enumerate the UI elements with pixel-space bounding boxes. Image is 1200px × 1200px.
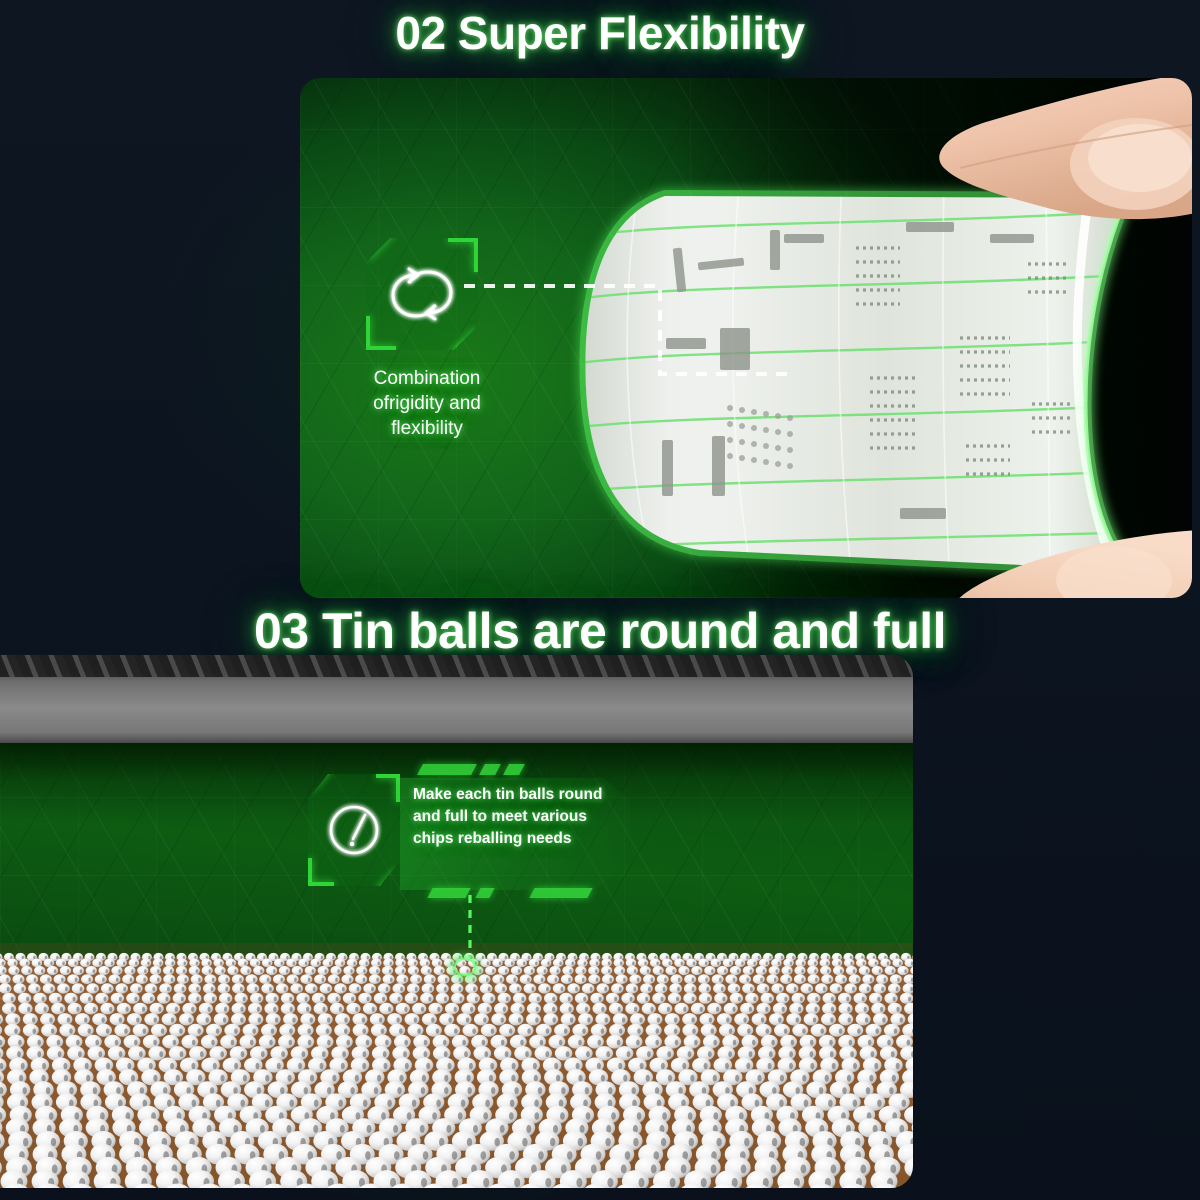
callout-connector-line (460, 258, 790, 398)
frame-bracket (376, 774, 400, 778)
thumb-top-photo (900, 78, 1192, 262)
solder-ball-icon-frame (308, 774, 400, 886)
section-title-02: 02 Super Flexibility (0, 6, 1200, 60)
frame-bracket (377, 869, 400, 892)
section-title-03: 03 Tin balls are round and full (0, 602, 1200, 660)
frame-bracket (448, 238, 478, 242)
callout-text: Make each tin balls round and full to me… (413, 784, 623, 850)
tin-balls-callout: Make each tin balls round and full to me… (300, 762, 630, 902)
callout-line: and full to meet various (413, 806, 623, 828)
caption-line: flexibility (322, 416, 532, 441)
decoration-bar (417, 764, 477, 775)
product-feature-infographic: 02 Super Flexibility (0, 0, 1200, 1200)
decoration-bar (529, 888, 592, 898)
frame-bracket (396, 774, 400, 802)
flexibility-arrows-icon (383, 259, 461, 329)
frame-ridges (0, 655, 913, 677)
frame-bracket (366, 346, 396, 350)
frame-bracket (309, 769, 332, 792)
callout-line: chips reballing needs (413, 828, 623, 850)
stencil-frame-edge (0, 655, 913, 743)
highlighted-ball-marker (454, 958, 476, 976)
callout-line: Make each tin balls round (413, 784, 623, 806)
decoration-bar (479, 764, 501, 775)
solder-ball-circle-icon (323, 799, 385, 861)
finger-bottom-photo (900, 508, 1192, 598)
flexibility-panel: Combination ofrigidity and flexibility (300, 78, 1192, 598)
frame-bracket (308, 882, 334, 886)
decoration-bar (503, 764, 525, 775)
frame-bracket (366, 316, 370, 350)
